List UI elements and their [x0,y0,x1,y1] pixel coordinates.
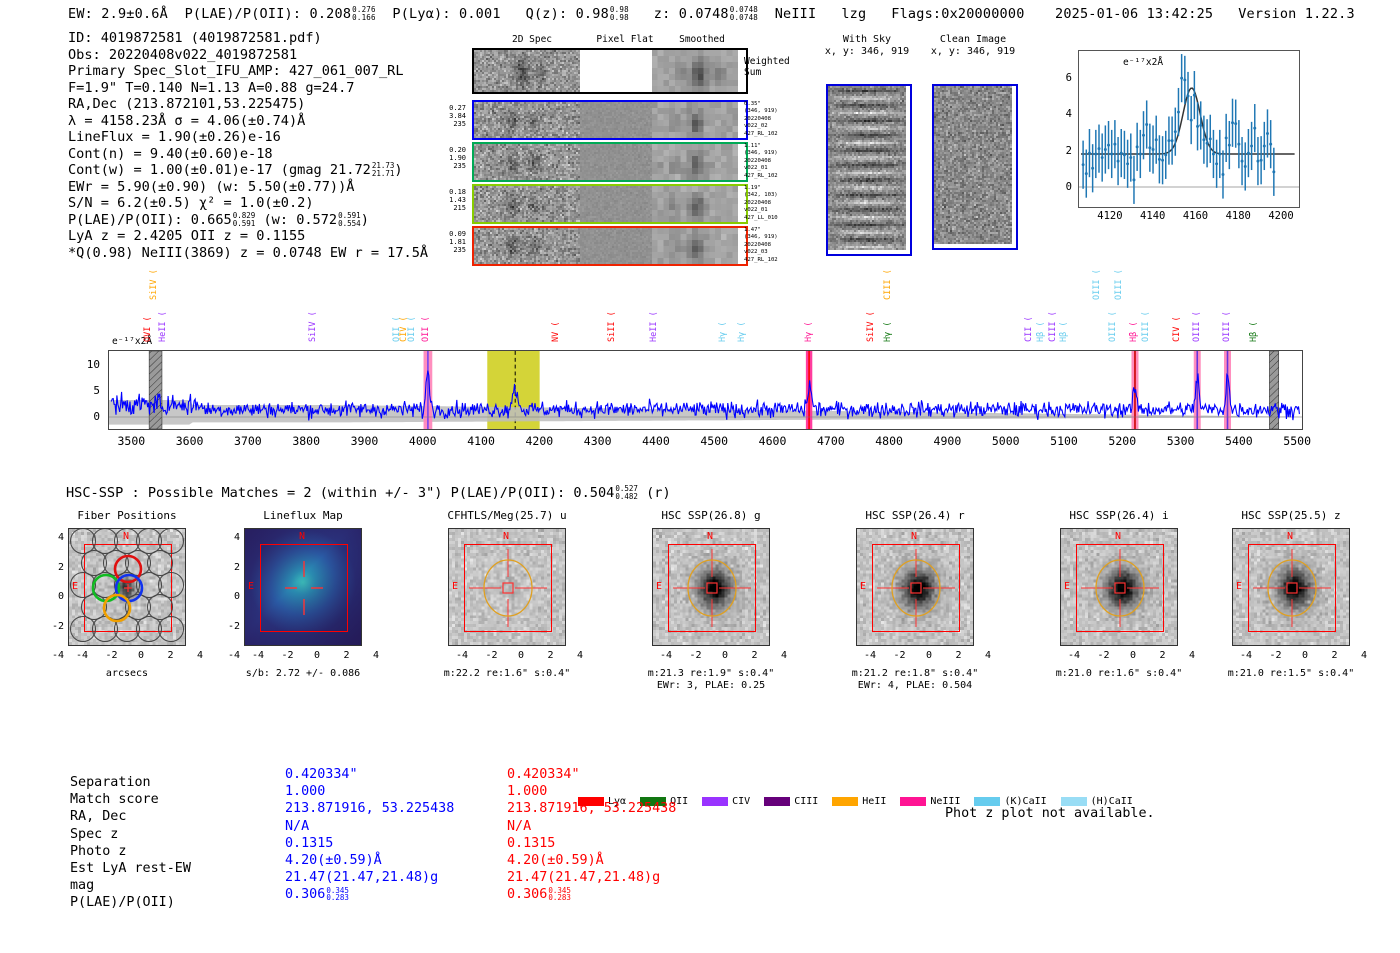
cutout-ytick: 0 [44,591,64,602]
spectrum-xtick: 3900 [338,434,390,448]
legend-swatch [974,797,1000,806]
emission-line-label: OIII ( [1192,311,1202,342]
cutout-panel: Fiber PositionsNE-4-2024420-2-4arcsecs [68,528,186,683]
cutout-xtick: 0 [131,650,151,661]
spec2d-cell [474,50,580,92]
spec2d-fiber-meta: 0.35"(346, 919)20220408v022_02427_RL_102 [744,101,814,138]
emission-line-label: OII ( [407,316,417,342]
header-z-range: 0.07480.0748 [730,6,758,21]
cutout-xtick: -2 [1266,650,1286,661]
cutout-xtick: -4 [248,650,268,661]
spectrum-xtick: 4800 [863,434,915,448]
match-plae-value: 0.306 [285,887,325,902]
cutout-caption-block: m:21.0 re:1.6" s:0.4" [1032,668,1206,680]
cutout-panel: Lineflux MapNE-4-2024420-2-4s/b: 2.72 +/… [244,528,362,683]
cutout-xtick: 2 [161,650,181,661]
emission-line-label: CIV ( [1172,316,1182,342]
cutout-panel: CFHTLS/Meg(25.7) uNE-4-2024m:22.2 re:1.6… [448,528,566,683]
info-plae-close: ) [361,212,369,228]
emission-line-label: NV ( [551,322,561,342]
cutout-xtick: -2 [890,650,910,661]
cutout-ytick: -4 [44,650,64,661]
cutout-xtick: 4 [978,650,998,661]
match-table-value: 0.420334" [507,766,676,783]
thumb-subtitle: x, y: 346, 919 [931,46,1015,57]
spectrum-ytick: 0 [74,410,100,423]
line-fit-xtick: 4140 [1131,210,1175,222]
cutout-title: HSC SSP(26.8) g [636,509,786,522]
cutout-caption-block: m:21.2 re:1.8" s:0.4"EWr: 4, PLAE: 0.504 [828,668,1002,692]
spectrum-xtick: 5100 [1038,434,1090,448]
spectrum-xtick: 4500 [688,434,740,448]
cutout-caption: m:21.3 re:1.9" s:0.4" [648,668,774,679]
emission-line-label: SiII ( [607,311,617,342]
match-table-value: N/A [285,818,454,835]
line-fit-unit-label: e⁻¹⁷x2Å [1123,57,1163,68]
cutout-image[interactable]: NE [68,528,186,646]
emission-line-label: Hβ ( [1129,322,1139,342]
spec2d-fiber-row [472,142,748,182]
match-table-label: mag [70,877,191,894]
hsc-headline-filter: (r) [646,485,671,501]
emission-line-label: OII ( [421,316,431,342]
info-cont-w-text: Cont(w) = 1.00(±0.01)e-17 (gmag 21.72 [68,162,371,178]
cutout-panel: HSC SSP(26.8) gNE-4-2024m:21.3 re:1.9" s… [652,528,770,683]
cutout-xtick: 0 [511,650,531,661]
match-plae-range: 0.3450.283 [548,887,571,902]
line-fit-plot: e⁻¹⁷x2Å 024641204140416041804200 [1040,48,1302,234]
cutout-caption-block: m:22.2 re:1.6" s:0.4" [420,668,594,680]
clean-image [932,84,1018,250]
cutout-xtick: -4 [656,650,676,661]
match-table-label: Spec z [70,826,191,843]
line-fit-xtick: 4200 [1259,210,1303,222]
match-table-value: 1.000 [285,783,454,800]
cutout-xtick: 0 [307,650,327,661]
line-fit-axes: e⁻¹⁷x2Å [1078,50,1300,208]
info-sn-chi2: S/N = 6.2(±0.5) χ² = 1.0(±0.2) [68,195,428,212]
legend-label: HeII [862,796,886,807]
cutout-xtick: -2 [482,650,502,661]
spectrum-xtick: 5400 [1213,434,1265,448]
cutout-caption: arcsecs [106,668,148,679]
thumb-title: With Sky [843,34,891,45]
spectrum-xtick: 5300 [1155,434,1207,448]
info-cont-n: Cont(n) = 9.40(±0.60)e-18 [68,146,428,163]
spectrum-xtick: 4400 [630,434,682,448]
cutout-panel: HSC SSP(26.4) rNE-4-2024m:21.2 re:1.8" s… [856,528,974,683]
legend-swatch [832,797,858,806]
match-table-value: N/A [507,818,676,835]
emission-line-label: OIII ( [1108,311,1118,342]
cutout-xtick: 2 [541,650,561,661]
info-plae-text: P(LAE)/P(OII): 0.665 [68,212,232,228]
cutout-image[interactable]: NE [652,528,770,646]
cutout-xtick: -4 [860,650,880,661]
match-table-label: Separation [70,774,191,791]
legend-label: CIII [794,796,818,807]
hsc-plae-range: 0.5270.482 [615,485,638,500]
cutout-xtick: 4 [1354,650,1374,661]
emission-line-label: OVI ( [143,316,153,342]
legend-label: CIV [732,796,750,807]
cutout-image[interactable]: NE [244,528,362,646]
emission-line-label: SiIV ( [308,311,318,342]
spectrum-xtick: 4000 [397,434,449,448]
cutout-xtick: -2 [686,650,706,661]
info-ewr: EWr = 5.90(±0.90) (w: 5.50(±0.77))Å [68,179,428,196]
legend-swatch [702,797,728,806]
emission-line-label: Hβ ( [1249,322,1259,342]
match-table-label: Est LyA rest-EW [70,860,191,877]
header-timestamp-block: 2025-01-06 13:42:25 Version 1.22.3 [1055,6,1355,22]
line-fit-ytick: 0 [1046,181,1072,193]
match-table-label: Match score [70,791,191,808]
info-plae: P(LAE)/P(OII): 0.6650.8290.591 (w: 0.572… [68,212,428,229]
match-table-label: RA, Dec [70,808,191,825]
match-table-red-values: 0.420334"1.000213.871916, 53.225438N/A0.… [507,766,676,904]
cutout-xtick: 0 [919,650,939,661]
cutout-xtick: 2 [1325,650,1345,661]
cutout-caption-block: s/b: 2.72 +/- 0.086 [216,668,390,680]
spec2d-weighted-sum-row [472,48,748,94]
line-fit-ytick: 6 [1046,72,1072,84]
cutout-image[interactable]: NE [856,528,974,646]
cutout-xtick: 0 [1123,650,1143,661]
with-sky-image [826,84,912,256]
cutout-image[interactable]: NE [448,528,566,646]
spec2d-fiber-meta: 1.19"(342, 103)20220408v022_01427_LL_010 [744,185,814,222]
version-label: Version 1.22.3 [1238,6,1355,22]
emission-line-label: Hγ ( [718,322,728,342]
legend-entry: CIII [764,796,818,807]
header-plae-label: P(LAE)/P(OII): 0.208 [185,6,352,22]
info-radec: RA,Dec (213.872101,53.225475) [68,96,428,113]
emission-line-label: OIII ( [1092,269,1102,300]
info-q-solution: *Q(0.98) NeIII(3869) z = 0.0748 EW r = 1… [68,245,428,262]
info-cont-w: Cont(w) = 1.00(±0.01)e-17 (gmag 21.7221.… [68,162,428,179]
info-lambda-sigma: λ = 4158.23Å σ = 4.06(±0.74)Å [68,113,428,130]
cutout-caption-block: arcsecs [40,668,214,680]
emission-line-label: OIII ( [1114,269,1124,300]
match-table-label: Photo z [70,843,191,860]
info-params: F=1.9" T=0.140 N=1.13 A=0.88 g=24.7 [68,80,428,97]
legend-swatch [1061,797,1087,806]
crosshair-icon [69,529,186,646]
spectrum-axes [108,350,1303,430]
emission-line-label: OIII ( [1141,311,1151,342]
cutout-xtick: 2 [949,650,969,661]
cutout-xtick: 4 [570,650,590,661]
hsc-headline-text: HSC-SSP : Possible Matches = 2 (within +… [66,485,614,501]
cutout-xtick: 4 [774,650,794,661]
emission-line-label: Hβ ( [1036,322,1046,342]
spectrum-xtick: 3600 [164,434,216,448]
spec2d-fiber-stats: 0.091.81235 [432,230,466,255]
match-table-value: 1.000 [507,783,676,800]
cutout-image[interactable]: NE [1232,528,1350,646]
thumb-caption: Clean Imagex, y: 346, 919 [902,34,1044,58]
header-ew: EW: 2.9±0.6Å [68,6,168,22]
spectrum-xtick: 4700 [805,434,857,448]
match-table-value: 21.47(21.47,21.48)g [507,869,676,886]
spectrum-xtick: 4200 [513,434,565,448]
emission-line-label: SiIV ( [866,311,876,342]
cutout-title: Lineflux Map [228,509,378,522]
header-lzg: lzg [841,6,866,22]
info-obs: Obs: 20220408v022_4019872581 [68,47,428,64]
cutout-caption-block: m:21.0 re:1.5" s:0.4" [1204,668,1378,680]
info-primary-slot: Primary Spec_Slot_IFU_AMP: 427_061_007_R… [68,63,428,80]
cutout-xtick: 0 [715,650,735,661]
crosshair-icon [857,529,974,646]
info-plae-w-range: 0.5910.554 [338,212,361,227]
thumb-subtitle: x, y: 346, 919 [825,46,909,57]
spec2d-fiber-meta: 1.47"(346, 919)20220408v022_03427_RL_102 [744,227,814,264]
match-table-value: 21.47(21.47,21.48)g [285,869,454,886]
spectrum-xtick: 4100 [455,434,507,448]
cutout-caption: m:21.2 re:1.8" s:0.4" [852,668,978,679]
spectrum-xtick: 3700 [222,434,274,448]
spectrum-xtick: 3500 [105,434,157,448]
emission-line-label: Hγ ( [804,322,814,342]
cutout-xtick: 2 [1153,650,1173,661]
cutout-title: HSC SSP(26.4) i [1044,509,1194,522]
weighted-sum-label: WeightedSum [744,56,814,78]
cutout-xtick: 4 [190,650,210,661]
source-info-block: ID: 4019872581 (4019872581.pdf) Obs: 202… [68,30,428,261]
crosshair-icon [1061,529,1178,646]
spectrum-xtick: 3800 [280,434,332,448]
crosshair-icon [1233,529,1350,646]
cutout-xtick: -4 [1236,650,1256,661]
cutout-ytick: 2 [44,562,64,573]
spectrum-xtick: 5000 [980,434,1032,448]
match-table-value: 4.20(±0.59)Å [285,852,454,869]
match-table-label: P(LAE)/P(OII) [70,894,191,911]
cutout-xtick: 2 [337,650,357,661]
info-id: ID: 4019872581 (4019872581.pdf) [68,30,428,47]
cutout-xtick: -2 [1094,650,1114,661]
match-table-labels: SeparationMatch scoreRA, DecSpec zPhoto … [70,774,191,912]
match-table-value: 0.3060.3450.283 [507,886,676,903]
info-redshifts: LyA z = 2.4205 OII z = 0.1155 [68,228,428,245]
cutout-ytick: -4 [220,650,240,661]
cutout-title: Fiber Positions [52,509,202,522]
full-spectrum-panel: e⁻¹⁷x2Å SiIV (OVI (HeII (SiIV (OII (CIV … [108,350,1303,430]
line-fit-ytick: 2 [1046,145,1072,157]
match-table-value: 0.420334" [285,766,454,783]
cutout-caption: m:21.0 re:1.6" s:0.4" [1056,668,1182,679]
line-fit-xtick: 4120 [1088,210,1132,222]
info-cont-w-close: ) [394,162,402,178]
legend-entry: CIV [702,796,750,807]
header-flags: Flags:0x20000000 [891,6,1024,22]
crosshair-icon [653,529,770,646]
emission-line-label: OIII ( [1222,311,1232,342]
header-plya: P(Lyα): 0.001 [392,6,500,22]
legend-swatch [764,797,790,806]
hsc-ssp-headline: HSC-SSP : Possible Matches = 2 (within +… [66,485,671,501]
cutout-ytick: 2 [220,562,240,573]
cutout-title: HSC SSP(25.5) z [1216,509,1366,522]
thumb-title: Clean Image [940,34,1006,45]
header-qz-range: 0.980.98 [610,6,629,21]
cutout-panel: HSC SSP(25.5) zNE-4-2024m:21.0 re:1.5" s… [1232,528,1350,683]
emission-line-label: Hγ ( [883,322,893,342]
cutout-xtick: -4 [1064,650,1084,661]
info-plae-range: 0.8290.591 [233,212,256,227]
match-table-value: 213.871916, 53.225438 [507,800,676,817]
cutout-image[interactable]: NE [1060,528,1178,646]
spec2d-fiber-stats: 0.201.90235 [432,146,466,171]
cutout-caption-block: m:21.3 re:1.9" s:0.4"EWr: 3, PLAE: 0.25 [624,668,798,692]
header-summary-line: EW: 2.9±0.6Å P(LAE)/P(OII): 0.2080.2760.… [68,6,1025,22]
cutout-caption: s/b: 2.72 +/- 0.086 [246,668,360,679]
spec2d-montage: 2D SpecPixel FlatSmoothedWeightedSum0.27… [462,34,758,258]
match-plae-range: 0.3450.283 [326,887,349,902]
spectrum-xtick: 4600 [747,434,799,448]
match-table-value: 213.871916, 53.225438 [285,800,454,817]
spec2d-fiber-stats: 0.181.43215 [432,188,466,213]
emission-line-label: HeII ( [158,311,168,342]
spectrum-ytick: 10 [74,358,100,371]
emission-line-label: Hγ ( [737,322,747,342]
spec2d-cell [580,50,652,92]
cutout-xtick: 4 [1182,650,1202,661]
crosshair-icon [449,529,566,646]
info-plae-w-text: (w: 0.572 [263,212,337,228]
header-line-id: NeIII [775,6,817,22]
cutout-ytick: 0 [220,591,240,602]
emission-line-label: SiIV ( [149,269,159,300]
line-fit-canvas [1079,51,1299,207]
cutout-ytick: -2 [44,621,64,632]
cutout-xtick: 2 [745,650,765,661]
spec2d-fiber-row [472,184,748,224]
cutout-xtick: -4 [452,650,472,661]
cutout-ytick: -2 [220,621,240,632]
emission-line-label: CII ( [1024,316,1034,342]
line-fit-xtick: 4160 [1173,210,1217,222]
timestamp: 2025-01-06 13:42:25 [1055,6,1213,22]
spectrum-xtick: 5500 [1271,434,1323,448]
match-table-value: 0.1315 [507,835,676,852]
info-gmag-range: 21.7321.71 [372,162,395,177]
cutout-xtick: -2 [102,650,122,661]
emission-line-label: Hβ ( [1059,322,1069,342]
cutout-caption: m:21.0 re:1.5" s:0.4" [1228,668,1354,679]
spec2d-fiber-row [472,226,748,266]
crosshair-icon [245,529,362,646]
cutout-title: HSC SSP(26.4) r [840,509,990,522]
legend-swatch [900,797,926,806]
spectrum-xtick: 4300 [572,434,624,448]
spectrum-canvas [109,351,1302,429]
spec2d-fiber-stats: 0.273.84235 [432,104,466,129]
header-z: z: 0.0748 [654,6,729,22]
match-table-value: 0.3060.3450.283 [285,886,454,903]
spectrum-xtick: 5200 [1096,434,1148,448]
cutout-caption-2: EWr: 4, PLAE: 0.504 [858,680,972,691]
cutout-ytick: 4 [44,532,64,543]
emission-line-label: CIII ( [883,269,893,300]
match-plae-value: 0.306 [507,887,547,902]
spec2d-cell [652,50,738,92]
line-fit-xtick: 4180 [1216,210,1260,222]
photz-unavailable-note: Phot z plot not available. [945,806,1155,821]
spectrum-xtick: 4900 [921,434,973,448]
header-qz: Q(z): 0.98 [526,6,609,22]
spec2d-column-title: Smoothed [648,34,756,45]
cutout-title: CFHTLS/Meg(25.7) u [432,509,582,522]
match-table-value: 4.20(±0.59)Å [507,852,676,869]
cutout-caption-2: EWr: 3, PLAE: 0.25 [657,680,765,691]
info-lineflux: LineFlux = 1.90(±0.26)e-16 [68,129,428,146]
cutout-caption: m:22.2 re:1.6" s:0.4" [444,668,570,679]
match-table-blue-values: 0.420334"1.000213.871916, 53.225438N/A0.… [285,766,454,904]
cutout-ytick: 4 [220,532,240,543]
cutout-xtick: -2 [278,650,298,661]
header-plae-range: 0.2760.166 [352,6,376,21]
cutout-xtick: 4 [366,650,386,661]
emission-line-label: CIII ( [1048,311,1058,342]
spectrum-ytick: 5 [74,384,100,397]
cutout-panel: HSC SSP(26.4) iNE-4-2024m:21.0 re:1.6" s… [1060,528,1178,683]
line-fit-ytick: 4 [1046,108,1072,120]
cutout-xtick: 0 [1295,650,1315,661]
cutout-xtick: -4 [72,650,92,661]
spec2d-fiber-meta: 1.11"(346, 919)20220408v022_01427_RL_102 [744,143,814,180]
emission-line-label: HeII ( [649,311,659,342]
match-table-value: 0.1315 [285,835,454,852]
legend-entry: HeII [832,796,886,807]
spec2d-fiber-row [472,100,748,140]
